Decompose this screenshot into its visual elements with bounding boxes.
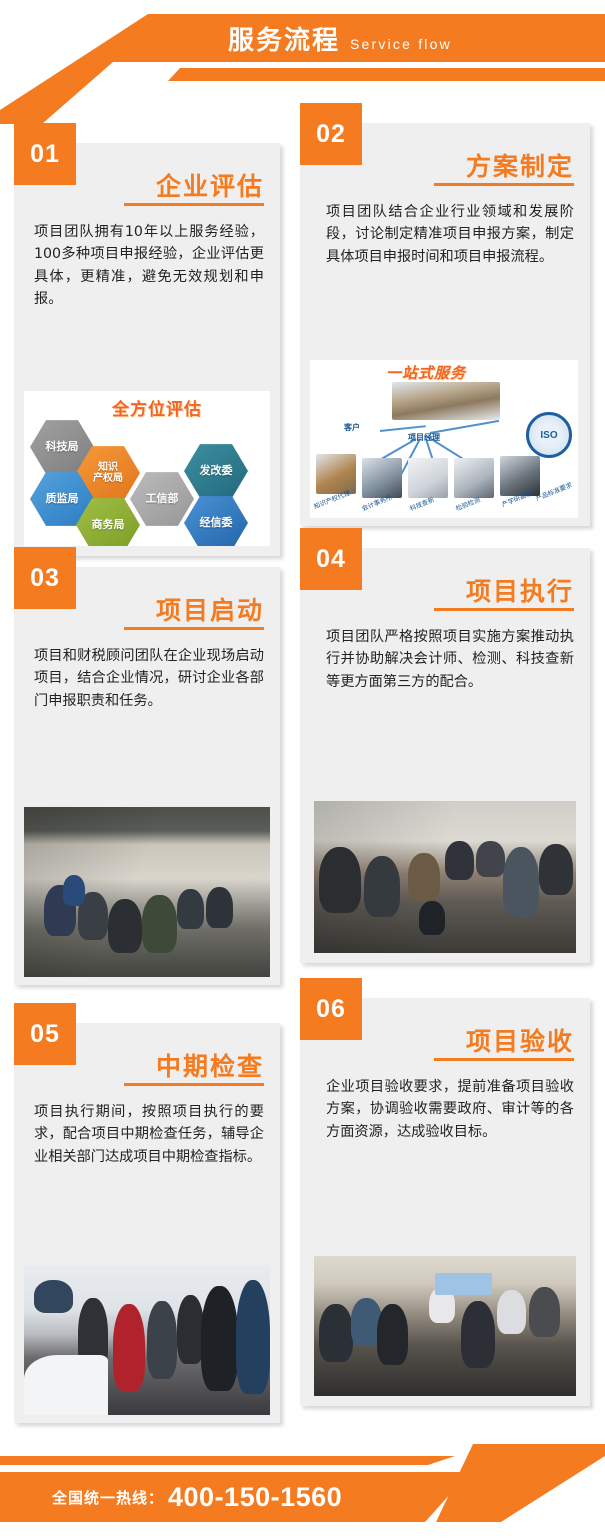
process-card-05[interactable]: 05 中期检查 项目执行期间，按照项目执行的要求，配合项目中期检查任务，辅导企业…	[14, 1023, 280, 1423]
card-body-text: 项目团队拥有10年以上服务经验，100多种项目申报经验，企业评估更具体，更精准，…	[34, 221, 264, 311]
one-stop-service-center-photo	[392, 382, 500, 420]
oss-thumb-research	[408, 458, 448, 498]
hexagon-assessment-chart: 全方位评估 科技局 知识产权局 发改委 质监局 工信部 经信委 商务局	[24, 391, 270, 546]
card-body-text: 项目团队严格按照项目实施方案推动执行并协助解决会计师、检测、科技查新等更方面第三…	[326, 626, 574, 693]
card-title-underline	[124, 627, 264, 630]
card-title-underline	[434, 608, 574, 611]
photo-working-meeting	[314, 801, 576, 953]
footer-hotline-label: 全国统一热线：	[52, 1487, 164, 1508]
footer-hotline-number[interactable]: 400-150-1560	[168, 1482, 342, 1513]
header-title-group: 服务流程 Service flow	[228, 20, 452, 62]
oss-thumb-ip	[316, 454, 356, 494]
oss-certification-seal: ISO	[526, 412, 572, 458]
card-title: 方案制定	[466, 147, 574, 183]
card-number-badge: 05	[14, 1003, 76, 1065]
page-header: 服务流程 Service flow	[0, 0, 605, 105]
card-body-text: 项目团队结合企业行业领域和发展阶段，讨论制定精准项目申报方案，制定具体项目申报时…	[326, 201, 574, 268]
one-stop-service-title: 一站式服务	[386, 362, 466, 383]
oss-thumb-testing	[454, 458, 494, 498]
card-title: 项目执行	[466, 572, 574, 608]
card-number-badge: 01	[14, 123, 76, 185]
page-footer: 全国统一热线： 400-150-1560	[0, 1420, 605, 1538]
card-title-underline	[434, 1058, 574, 1061]
card-title-underline	[124, 203, 264, 206]
hexagon-node-jingxin: 经信委	[184, 495, 248, 546]
hexagon-node-fagai: 发改委	[184, 443, 248, 499]
process-card-06[interactable]: 06 项目验收 企业项目验收要求，提前准备项目验收方案，协调验收需要政府、审计等…	[300, 998, 590, 1406]
photo-conference-room	[24, 807, 270, 977]
card-title-underline	[124, 1083, 264, 1086]
header-title-en: Service flow	[350, 36, 452, 52]
oss-node-manager: 项目经理	[408, 432, 440, 443]
header-title-cn: 服务流程	[228, 20, 340, 57]
oss-label-standard: 产品标准要求	[534, 480, 573, 503]
oss-arrow-1	[380, 425, 426, 432]
oss-thumb-academy	[500, 456, 540, 496]
card-title: 项目验收	[466, 1022, 574, 1058]
process-card-01[interactable]: 01 企业评估 项目团队拥有10年以上服务经验，100多种项目申报经验，企业评估…	[14, 143, 280, 556]
one-stop-service-diagram: 一站式服务 客户 项目经理 ISO 知识产权代理 会计事务所 科技查新 检验检测…	[310, 360, 578, 518]
card-body-text: 项目执行期间，按照项目执行的要求，配合项目中期检查任务，辅导企业相关部门达成项目…	[34, 1101, 264, 1168]
hexagon-chart-title: 全方位评估	[112, 395, 202, 420]
card-title-underline	[434, 183, 574, 186]
process-card-grid: 01 企业评估 项目团队拥有10年以上服务经验，100多种项目申报经验，企业评估…	[0, 105, 605, 1420]
card-number-badge: 03	[14, 547, 76, 609]
oss-node-customer: 客户	[344, 422, 360, 433]
card-body-text: 企业项目验收要求，提前准备项目验收方案，协调验收需要政府、审计等的各方面资源，达…	[326, 1076, 574, 1143]
card-number-badge: 06	[300, 978, 362, 1040]
card-body-text: 项目和财税顾问团队在企业现场启动项目，结合企业情况，研讨企业各部门申报职责和任务…	[34, 645, 264, 712]
card-number-badge: 02	[300, 103, 362, 165]
photo-showroom-visit	[24, 1265, 270, 1415]
card-title: 中期检查	[156, 1047, 264, 1083]
oss-arrow-2	[430, 420, 499, 434]
oss-thumb-account	[362, 458, 402, 498]
hexagon-node-gongxin: 工信部	[130, 471, 194, 527]
card-number-badge: 04	[300, 528, 362, 590]
process-card-04[interactable]: 04 项目执行 项目团队严格按照项目实施方案推动执行并协助解决会计师、检测、科技…	[300, 548, 590, 963]
process-card-03[interactable]: 03 项目启动 项目和财税顾问团队在企业现场启动项目，结合企业情况，研讨企业各部…	[14, 567, 280, 985]
footer-hotline-group: 全国统一热线： 400-150-1560	[52, 1472, 342, 1522]
photo-acceptance-meeting	[314, 1256, 576, 1396]
process-card-02[interactable]: 02 方案制定 项目团队结合企业行业领域和发展阶段，讨论制定精准项目申报方案，制…	[300, 123, 590, 526]
card-title: 项目启动	[156, 591, 264, 627]
card-title: 企业评估	[156, 167, 264, 203]
